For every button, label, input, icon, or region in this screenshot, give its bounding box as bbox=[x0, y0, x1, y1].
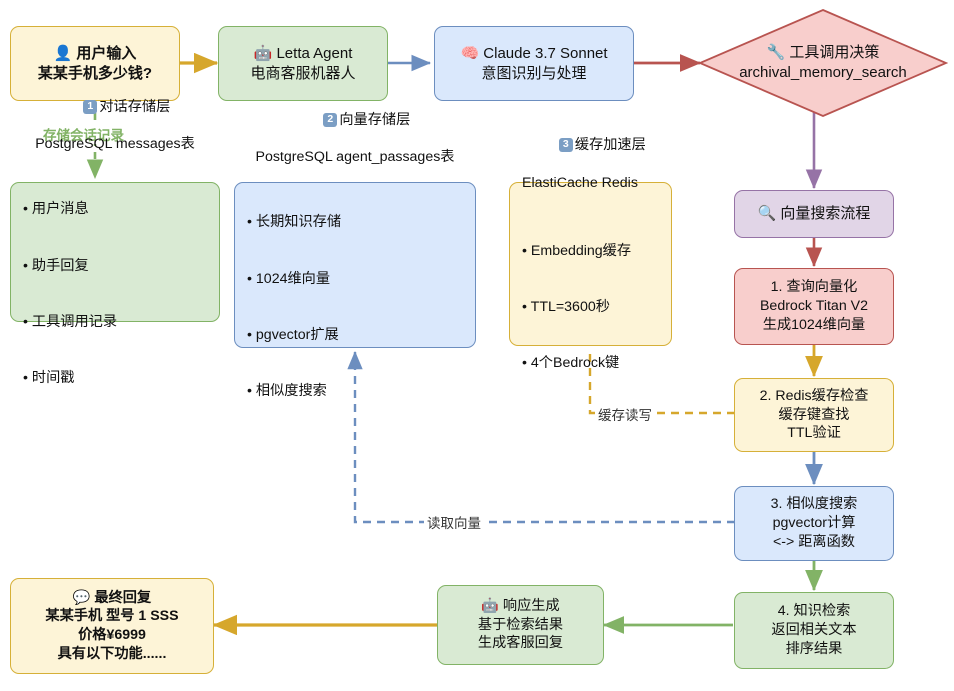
node-claude-model[interactable]: 🧠 Claude 3.7 Sonnet 意图识别与处理 bbox=[434, 26, 634, 101]
claude-line1: 🧠 Claude 3.7 Sonnet bbox=[460, 44, 607, 64]
storage1-bullet-3: • 时间戳 bbox=[23, 369, 117, 388]
storage1-bullet-1: • 助手回复 bbox=[23, 257, 117, 276]
storage2-line2: PostgreSQL agent_passages表 bbox=[255, 148, 454, 167]
node-step3-similarity[interactable]: 3. 相似度搜索 pgvector计算 <-> 距离函数 bbox=[734, 486, 894, 561]
badge-2-icon: 2 bbox=[323, 113, 337, 127]
tool-decision-line2: archival_memory_search bbox=[739, 63, 907, 83]
step1-line1: 1. 查询向量化 bbox=[771, 278, 858, 297]
node-response-generation[interactable]: 🤖 响应生成 基于检索结果 生成客服回复 bbox=[437, 585, 604, 665]
storage2-bullet-2: • pgvector扩展 bbox=[247, 326, 341, 345]
step2-line2: 缓存键查找 bbox=[779, 406, 850, 425]
storage3-bullet-0: • Embedding缓存 bbox=[522, 242, 631, 261]
step3-line1: 3. 相似度搜索 bbox=[771, 495, 858, 514]
node-storage-conversation[interactable]: 1对话存储层 PostgreSQL messages表 • 用户消息 • 助手回… bbox=[10, 182, 220, 322]
flowchart-canvas: 👤 用户输入 某某手机多少钱? 🤖 Letta Agent 电商客服机器人 🧠 … bbox=[0, 0, 954, 691]
storage3-bullets: • Embedding缓存 • TTL=3600秒 • 4个Bedrock键 bbox=[522, 204, 631, 410]
final-line3: 价格¥6999 bbox=[78, 626, 146, 645]
claude-line2: 意图识别与处理 bbox=[481, 64, 586, 84]
response-line3: 生成客服回复 bbox=[478, 634, 563, 653]
response-line2: 基于检索结果 bbox=[478, 616, 563, 635]
storage2-bullets: • 长期知识存储 • 1024维向量 • pgvector扩展 • 相似度搜索 bbox=[247, 176, 341, 438]
vsflow-line1: 🔍 向量搜索流程 bbox=[758, 204, 871, 224]
final-line1: 💬 最终回复 bbox=[73, 589, 151, 608]
edge-label-read-vector: 读取向量 bbox=[424, 512, 484, 532]
node-step1-vectorize[interactable]: 1. 查询向量化 Bedrock Titan V2 生成1024维向量 bbox=[734, 268, 894, 345]
user-input-line1: 👤 用户输入 bbox=[54, 44, 137, 64]
storage2-bullet-3: • 相似度搜索 bbox=[247, 382, 341, 401]
node-letta-agent[interactable]: 🤖 Letta Agent 电商客服机器人 bbox=[218, 26, 388, 101]
storage3-bullet-2: • 4个Bedrock键 bbox=[522, 354, 631, 373]
storage3-title: 3缓存加速层 bbox=[535, 118, 646, 174]
node-step4-knowledge-retrieval[interactable]: 4. 知识检索 返回相关文本 排序结果 bbox=[734, 592, 894, 669]
node-storage-vector[interactable]: 2向量存储层 PostgreSQL agent_passages表 • 长期知识… bbox=[234, 182, 476, 348]
storage3-line2: ElastiCache Redis bbox=[522, 174, 638, 193]
step2-line3: TTL验证 bbox=[787, 424, 841, 443]
response-line1: 🤖 响应生成 bbox=[481, 597, 559, 616]
final-line4: 具有以下功能...... bbox=[58, 645, 167, 664]
step3-line3: <-> 距离函数 bbox=[773, 533, 855, 552]
storage2-title: 2向量存储层 bbox=[300, 92, 411, 148]
edge-label-cache-rw: 缓存读写 bbox=[595, 404, 655, 424]
storage1-line2: PostgreSQL messages表 bbox=[35, 135, 195, 154]
badge-3-icon: 3 bbox=[559, 138, 573, 152]
badge-1-icon: 1 bbox=[83, 100, 97, 114]
storage1-bullet-2: • 工具调用记录 bbox=[23, 313, 117, 332]
storage1-title: 1对话存储层 bbox=[60, 79, 171, 135]
node-step2-redis-check[interactable]: 2. Redis缓存检查 缓存键查找 TTL验证 bbox=[734, 378, 894, 452]
step1-line2: Bedrock Titan V2 bbox=[760, 297, 868, 316]
storage2-bullet-0: • 长期知识存储 bbox=[247, 213, 341, 232]
step2-line1: 2. Redis缓存检查 bbox=[760, 387, 869, 406]
node-vector-search-flow[interactable]: 🔍 向量搜索流程 bbox=[734, 190, 894, 238]
step4-line3: 排序结果 bbox=[786, 640, 843, 659]
step4-line1: 4. 知识检索 bbox=[778, 602, 851, 621]
storage1-bullet-0: • 用户消息 bbox=[23, 200, 117, 219]
step4-line2: 返回相关文本 bbox=[771, 621, 856, 640]
step1-line3: 生成1024维向量 bbox=[763, 316, 866, 335]
storage3-line1: 缓存加速层 bbox=[575, 137, 646, 153]
node-tool-decision[interactable]: 🔧 工具调用决策 archival_memory_search bbox=[698, 8, 948, 118]
step3-line2: pgvector计算 bbox=[773, 514, 856, 533]
letta-agent-line2: 电商客服机器人 bbox=[250, 64, 355, 84]
tool-decision-line1: 🔧 工具调用决策 bbox=[767, 43, 880, 63]
letta-agent-line1: 🤖 Letta Agent bbox=[254, 44, 353, 64]
node-storage-cache[interactable]: 3缓存加速层 ElastiCache Redis • Embedding缓存 •… bbox=[509, 182, 672, 346]
final-line2: 某某手机 型号 1 SSS bbox=[45, 607, 178, 626]
storage1-bullets: • 用户消息 • 助手回复 • 工具调用记录 • 时间戳 bbox=[23, 163, 117, 425]
storage2-bullet-1: • 1024维向量 bbox=[247, 270, 341, 289]
storage1-line1: 对话存储层 bbox=[99, 99, 170, 115]
storage2-line1: 向量存储层 bbox=[339, 112, 410, 128]
node-final-reply[interactable]: 💬 最终回复 某某手机 型号 1 SSS 价格¥6999 具有以下功能.....… bbox=[10, 578, 214, 674]
storage3-bullet-1: • TTL=3600秒 bbox=[522, 298, 631, 317]
